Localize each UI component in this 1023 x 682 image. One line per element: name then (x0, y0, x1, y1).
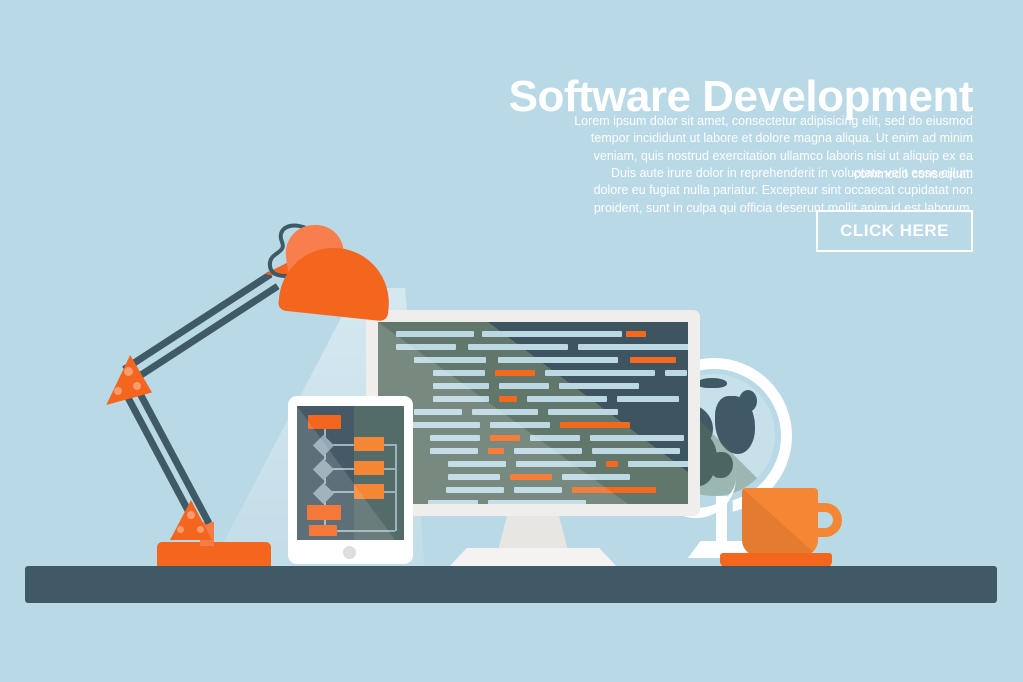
desktop-monitor (366, 310, 700, 516)
desk-surface (25, 566, 997, 603)
click-here-button[interactable]: CLICK HERE (816, 210, 973, 252)
tablet-screen-reflection (297, 406, 395, 540)
code-line-segment (630, 357, 676, 363)
illustration-scene: Software Development Lorem ipsum dolor s… (0, 0, 1023, 682)
lamp-upper-arm (122, 271, 273, 372)
coffee-cup (742, 488, 818, 556)
code-line-segment (626, 331, 646, 337)
monitor-base (448, 548, 618, 568)
lamp-base (157, 542, 271, 568)
screen-light-reflection (378, 322, 628, 504)
globe-pole (716, 496, 727, 544)
lamp-lower-arm (129, 377, 212, 525)
code-line-segment (628, 461, 688, 467)
cup-shading (742, 488, 818, 556)
code-line-segment (665, 370, 687, 376)
code-editor-screen (378, 322, 688, 504)
lamp-upper-arm (129, 283, 280, 384)
tablet-device (288, 396, 413, 564)
flowchart-screen (297, 406, 404, 540)
tablet-home-button[interactable] (343, 546, 356, 559)
